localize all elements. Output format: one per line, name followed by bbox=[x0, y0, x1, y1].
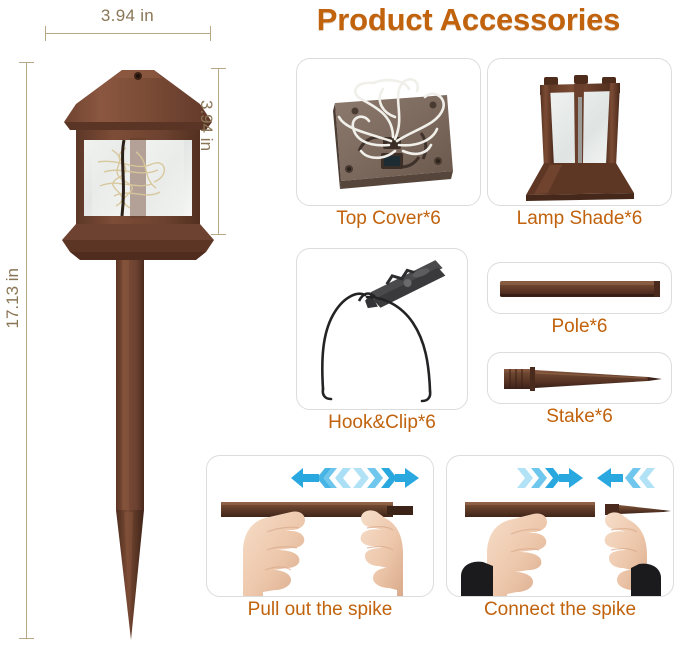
accessory-label-lamp-shade: Lamp Shade*6 bbox=[487, 208, 672, 230]
dimension-head-height-label: 3.94 in bbox=[196, 100, 216, 151]
arrow-left-group bbox=[597, 468, 655, 488]
instruction-label-pull-spike: Pull out the spike bbox=[200, 599, 440, 621]
pole-image bbox=[488, 263, 672, 314]
accessory-card-lamp-shade bbox=[487, 58, 672, 206]
dimension-width-label: 3.94 in bbox=[45, 6, 210, 26]
left-hand bbox=[461, 513, 547, 597]
right-hand bbox=[361, 510, 403, 597]
arrow-left-group bbox=[291, 468, 351, 488]
dimension-width-cap-right bbox=[210, 26, 211, 41]
page-title: Product Accessories bbox=[258, 2, 679, 38]
lamp-shade-image bbox=[488, 59, 672, 206]
instruction-card-connect-spike bbox=[446, 455, 674, 597]
dimension-head-line bbox=[218, 68, 219, 234]
accessory-label-stake: Stake*6 bbox=[487, 406, 672, 428]
accessory-label-top-cover: Top Cover*6 bbox=[296, 208, 481, 230]
accessory-card-hook-clip bbox=[296, 248, 468, 410]
dimension-width-line bbox=[45, 33, 210, 34]
dimension-total-cap-bottom bbox=[19, 638, 34, 639]
dimension-total-height-label: 17.13 in bbox=[3, 268, 23, 329]
pull-out-spike-image bbox=[207, 456, 434, 597]
arrow-right-group bbox=[517, 468, 583, 488]
accessory-card-stake bbox=[487, 352, 672, 404]
accessory-label-pole: Pole*6 bbox=[487, 316, 672, 338]
instruction-card-pull-spike bbox=[206, 455, 434, 597]
accessory-label-hook-clip: Hook&Clip*6 bbox=[288, 412, 476, 434]
hook-and-clip-image bbox=[297, 249, 468, 410]
right-hand bbox=[605, 512, 661, 597]
connect-spike-image bbox=[447, 456, 674, 597]
instruction-label-connect-spike: Connect the spike bbox=[440, 599, 679, 621]
arrow-right-group bbox=[353, 468, 419, 488]
dimension-total-line bbox=[26, 62, 27, 638]
stake-image bbox=[488, 353, 672, 404]
accessory-card-pole bbox=[487, 262, 672, 314]
dimension-head-cap-bottom bbox=[211, 234, 226, 235]
accessory-card-top-cover bbox=[296, 58, 481, 206]
top-cover-plate-image bbox=[297, 59, 481, 206]
left-hand bbox=[243, 511, 305, 597]
